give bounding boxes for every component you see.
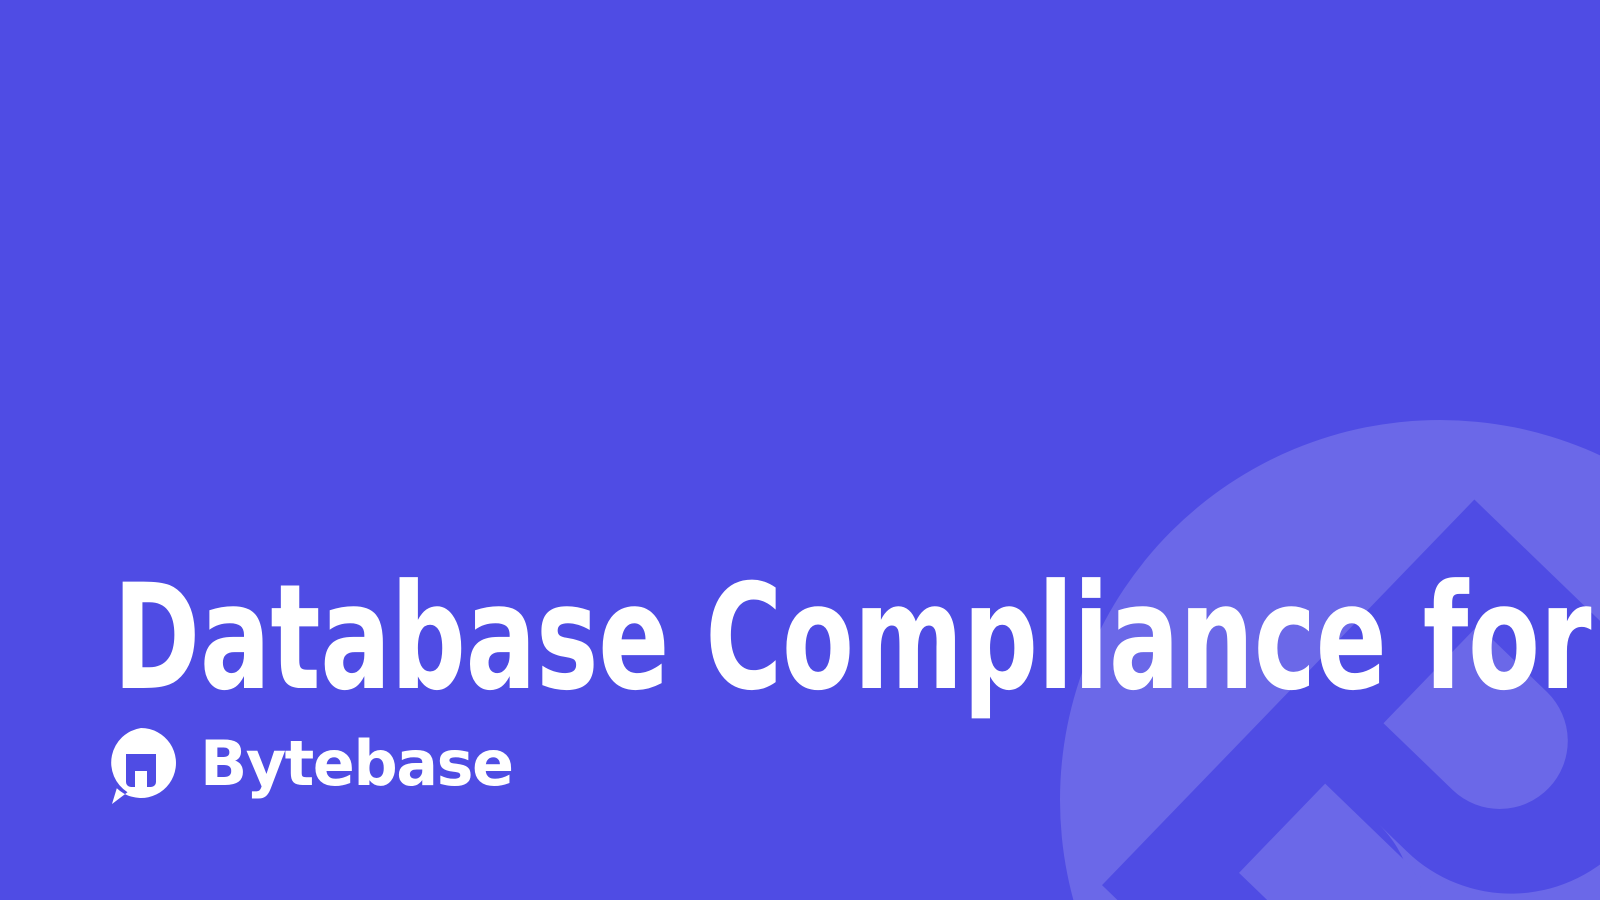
brand-wordmark: Bytebase	[200, 733, 513, 799]
share-card-canvas: Database Compliance for HITRUST: Control…	[0, 0, 1600, 900]
bytebase-speech-bubble-icon	[104, 726, 178, 806]
brand-lockup: Bytebase	[104, 726, 513, 806]
title-line-1: Database Compliance for	[113, 552, 1233, 725]
